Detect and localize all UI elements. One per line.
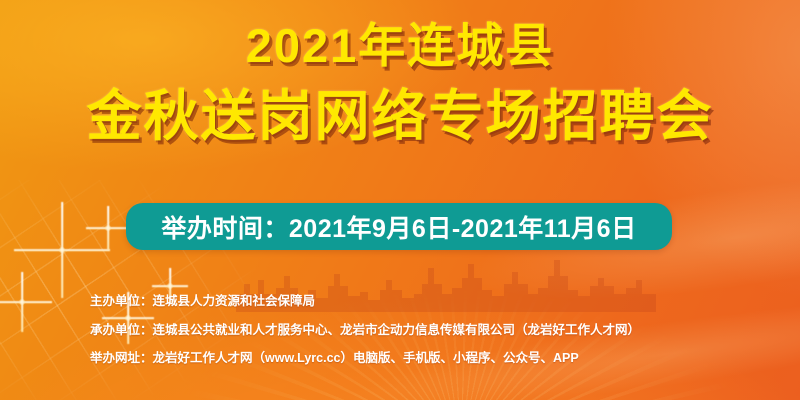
info-row-host: 主办单位：连城县人力资源和社会保障局	[90, 287, 640, 316]
info-row-organizer: 承办单位：连城县公共就业和人才服务中心、龙岩市企动力信息传媒有限公司（龙岩好工作…	[90, 316, 640, 345]
event-date-badge: 举办时间：2021年9月6日-2021年11月6日	[126, 203, 672, 250]
title-line-1: 2021年连城县	[0, 22, 800, 69]
title-line-2: 金秋送岗网络专场招聘会	[0, 89, 800, 144]
recruitment-banner: 2021年连城县 金秋送岗网络专场招聘会 举办时间：2021年9月6日-2021…	[0, 0, 800, 400]
info-row-website: 举办网址：龙岩好工作人才网（www.Lyrc.cc）电脑版、手机版、小程序、公众…	[90, 344, 640, 373]
event-date-label: 举办时间：2021年9月6日-2021年11月6日	[161, 209, 636, 245]
organizer-info-block: 主办单位：连城县人力资源和社会保障局 承办单位：连城县公共就业和人才服务中心、龙…	[90, 287, 640, 373]
banner-headline: 2021年连城县 金秋送岗网络专场招聘会	[0, 22, 800, 144]
